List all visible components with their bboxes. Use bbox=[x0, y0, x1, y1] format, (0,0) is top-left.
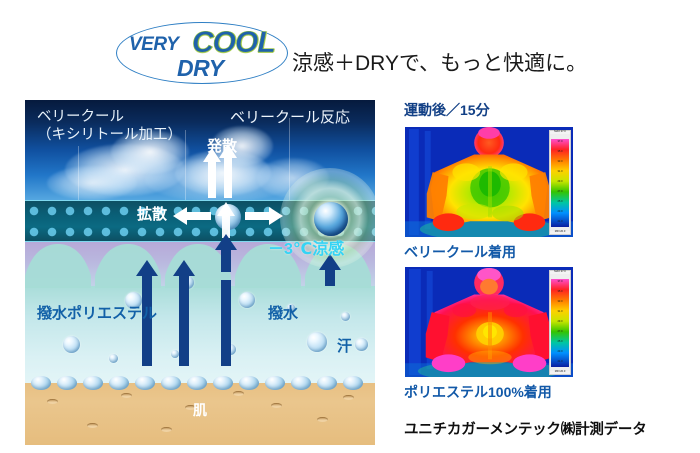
scale-tick: 29.0 bbox=[551, 321, 569, 324]
label-very-cool-line2: （キシリトール加工） bbox=[37, 126, 182, 144]
scale-tick: 23.0 bbox=[551, 351, 569, 354]
logo-very-label: VERY bbox=[129, 34, 178, 55]
scale-tick: 21.0 bbox=[551, 361, 569, 364]
scale-tick: 25.0 bbox=[551, 341, 569, 344]
scale-tick: 35.0 bbox=[551, 291, 569, 294]
logo-very-text: VERY bbox=[129, 35, 178, 54]
scale-max-label: MAX 37.0 bbox=[550, 271, 570, 274]
label-diffusion: 拡散 bbox=[137, 206, 167, 225]
brand-logo-inner: VERY COOL DRY bbox=[117, 23, 287, 83]
header: VERY COOL DRY 涼感＋DRYで、もっと快適に。 bbox=[0, 0, 700, 92]
fabric-mechanism-diagram: ベリークール （キシリトール加工） 発散 ベリークール反応 拡散 －3℃涼感 撥… bbox=[25, 100, 375, 445]
scale-tick: 35.0 bbox=[551, 151, 569, 154]
scale-tick: 27.0 bbox=[551, 191, 569, 194]
thermal-image-2-graphic bbox=[405, 267, 573, 377]
wicking-arrow-icon bbox=[173, 260, 195, 366]
scale-tick: 37.0 bbox=[551, 141, 569, 144]
label-water-repellent: 撥水 bbox=[268, 305, 298, 324]
label-water-repellent-polyester: 撥水ポリエステル bbox=[37, 305, 157, 324]
label-skin: 肌 bbox=[193, 402, 207, 420]
logo-cool-text: COOL bbox=[192, 28, 275, 58]
scale-tick: 33.0 bbox=[551, 301, 569, 304]
thermal-caption-polyester: ポリエステル100%着用 bbox=[404, 382, 552, 402]
temperature-scale-2: MAX 37.0 37.0 35.0 33.0 31.0 29.0 27.0 2… bbox=[549, 270, 571, 375]
thermal-caption-very-cool: ベリークール着用 bbox=[404, 242, 516, 262]
scale-tick: 23.0 bbox=[551, 211, 569, 214]
thermography-heading: 運動後／15分 bbox=[404, 100, 490, 120]
scale-tick: 31.0 bbox=[551, 171, 569, 174]
scale-tick: 25.0 bbox=[551, 201, 569, 204]
diagram-arrows bbox=[25, 100, 375, 445]
label-very-cool-line1: ベリークール bbox=[37, 108, 182, 126]
scale-min-label: MIN 20.0 bbox=[550, 371, 570, 374]
thermal-image-1-graphic bbox=[405, 127, 573, 237]
thermal-image-very-cool: MAX 37.0 37.0 35.0 33.0 31.0 29.0 27.0 2… bbox=[404, 126, 574, 238]
scale-tick: 27.0 bbox=[551, 331, 569, 334]
thermal-image-polyester: MAX 37.0 37.0 35.0 33.0 31.0 29.0 27.0 2… bbox=[404, 266, 574, 378]
scale-tick: 31.0 bbox=[551, 311, 569, 314]
label-very-cool-reaction: ベリークール反応 bbox=[230, 109, 350, 128]
wicking-arrow-icon bbox=[215, 234, 237, 366]
evaporation-arrow-icon bbox=[217, 202, 235, 238]
tagline: 涼感＋DRYで、もっと快適に。 bbox=[292, 47, 587, 77]
scale-max-label: MAX 37.0 bbox=[550, 131, 570, 134]
scale-min-label: MIN 20.0 bbox=[550, 231, 570, 234]
scale-tick: 33.0 bbox=[551, 161, 569, 164]
logo-dry-text: DRY bbox=[177, 57, 224, 80]
logo-dry-label: DRY bbox=[177, 55, 224, 81]
label-sweat: 汗 bbox=[337, 338, 352, 357]
temperature-scale-1: MAX 37.0 37.0 35.0 33.0 31.0 29.0 27.0 2… bbox=[549, 130, 571, 235]
scale-tick: 29.0 bbox=[551, 181, 569, 184]
thermography-panel: 運動後／15分 bbox=[402, 100, 682, 445]
scale-tick: 37.0 bbox=[551, 281, 569, 284]
scale-tick: 21.0 bbox=[551, 221, 569, 224]
label-minus-3-degrees: －3℃涼感 bbox=[268, 240, 344, 260]
label-very-cool: ベリークール （キシリトール加工） bbox=[37, 108, 182, 144]
data-credit: ユニチカガーメンテック㈱計測データ bbox=[404, 418, 647, 439]
label-evaporation: 発散 bbox=[207, 138, 237, 157]
brand-logo: VERY COOL DRY bbox=[116, 22, 288, 84]
